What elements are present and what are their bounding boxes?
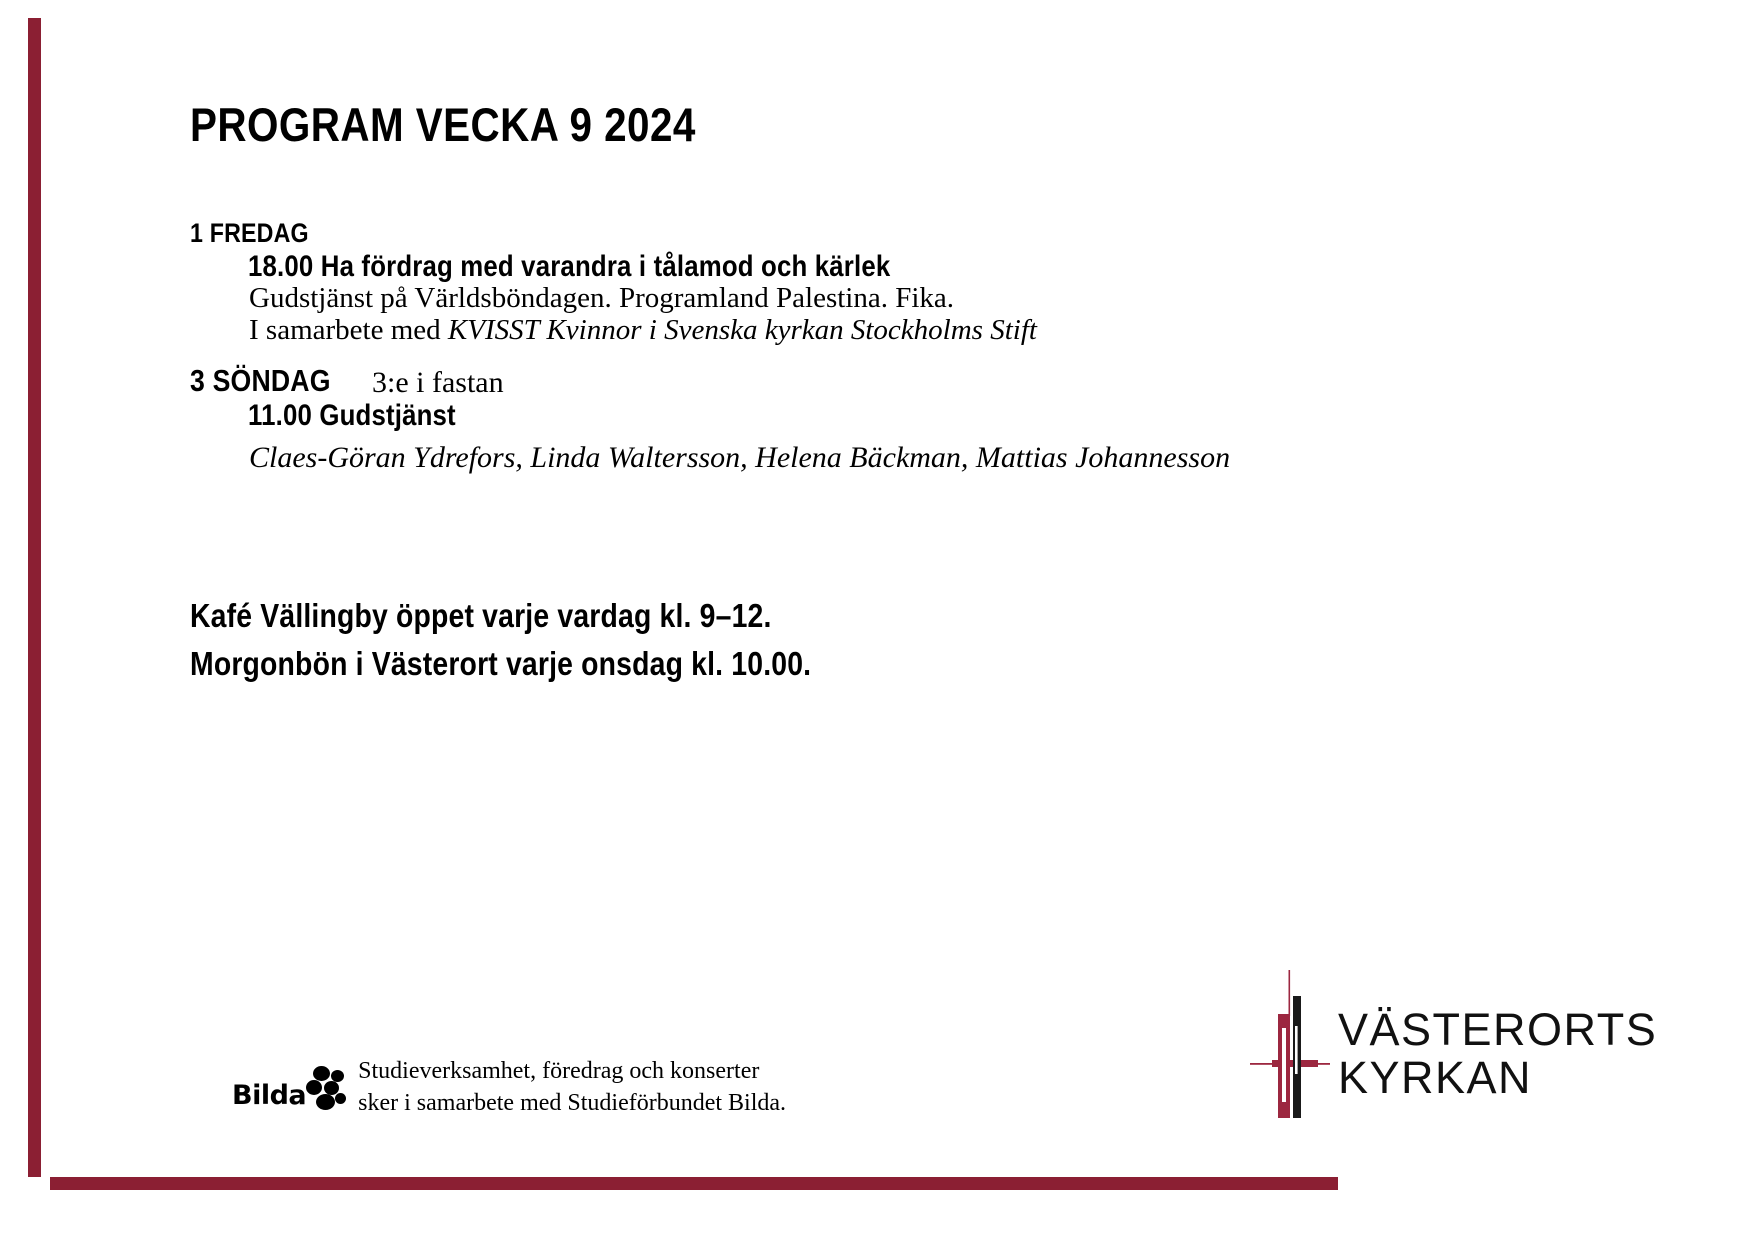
corner-notch: [28, 1177, 50, 1241]
standing-info-morgonbon: Morgonbön i Västerort varje onsdag kl. 1…: [190, 645, 811, 683]
day-heading-fredag: 1 FREDAG: [190, 218, 309, 249]
church-logo: VÄSTERORTS KYRKAN: [1248, 968, 1578, 1118]
bilda-disclaimer: Studieverksamhet, föredrag och konserter…: [358, 1056, 786, 1119]
bilda-dots-icon: [304, 1064, 348, 1112]
program-poster: PROGRAM VECKA 9 2024 1 FREDAG 18.00 Ha f…: [0, 0, 1755, 1241]
left-accent-bar: [28, 18, 41, 1190]
bottom-accent-bar: [28, 1177, 1338, 1190]
church-logo-wordmark: VÄSTERORTS KYRKAN: [1338, 1006, 1657, 1101]
church-logo-line2: KYRKAN: [1338, 1054, 1657, 1102]
cross-tower-icon: [1248, 968, 1332, 1118]
event-collaboration-fredag: I samarbete med KVISST Kvinnor i Svenska…: [249, 314, 1037, 347]
day-subtitle-sondag: 3:e i fastan: [372, 366, 504, 400]
event-title-sondag: 11.00 Gudstjänst: [248, 399, 456, 433]
collaboration-prefix: I samarbete med: [249, 314, 448, 346]
bilda-disclaimer-line1: Studieverksamhet, föredrag och konserter: [358, 1056, 786, 1088]
church-logo-line1: VÄSTERORTS: [1338, 1006, 1657, 1054]
collaboration-partner: KVISST Kvinnor i Svenska kyrkan Stockhol…: [448, 314, 1037, 346]
bilda-footer: Bilda Studieverksamhet, föredrag och kon…: [232, 1056, 786, 1119]
bilda-disclaimer-line2: sker i samarbete med Studieförbundet Bil…: [358, 1088, 786, 1120]
bilda-wordmark: Bilda: [232, 1080, 306, 1111]
event-description-fredag: Gudstjänst på Världsböndagen. Programlan…: [249, 282, 954, 315]
standing-info-kafe: Kafé Vällingby öppet varje vardag kl. 9–…: [190, 597, 772, 635]
day-heading-sondag: 3 SÖNDAG: [190, 363, 331, 399]
event-participants-sondag: Claes-Göran Ydrefors, Linda Waltersson, …: [249, 441, 1230, 475]
event-title-fredag: 18.00 Ha fördrag med varandra i tålamod …: [248, 250, 890, 284]
page-title: PROGRAM VECKA 9 2024: [190, 97, 696, 152]
